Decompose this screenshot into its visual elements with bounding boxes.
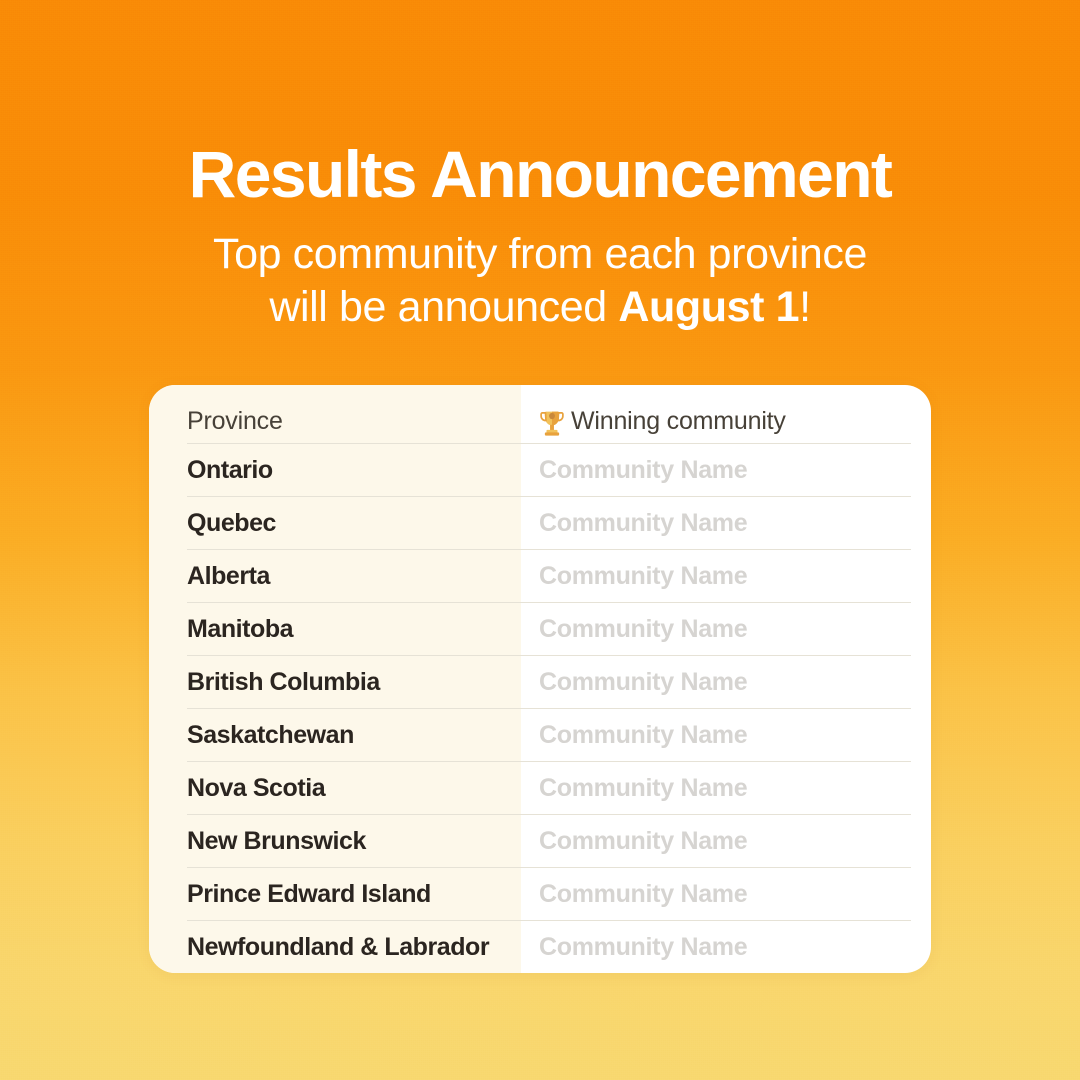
headline-block: Results Announcement Top community from … <box>0 0 1080 334</box>
row-divider <box>187 549 911 550</box>
cell-winning-community[interactable]: Community Name <box>521 497 931 549</box>
table-row: Prince Edward Island Community Name <box>149 868 931 920</box>
province-name: New Brunswick <box>187 827 366 856</box>
province-name: Ontario <box>187 456 273 485</box>
results-announcement-poster: Results Announcement Top community from … <box>0 0 1080 1080</box>
community-name-placeholder: Community Name <box>539 880 747 909</box>
subtitle-line-1: Top community from each province <box>213 230 867 278</box>
table-row: Alberta Community Name <box>149 550 931 602</box>
cell-province: British Columbia <box>149 656 521 708</box>
cell-province: Saskatchewan <box>149 709 521 761</box>
row-divider <box>187 602 911 603</box>
column-header-winning-community: Winning community <box>571 409 786 434</box>
cell-winning-community[interactable]: Community Name <box>521 762 931 814</box>
table-header-cell-province: Province <box>149 385 521 443</box>
table-row: Saskatchewan Community Name <box>149 709 931 761</box>
page-title: Results Announcement <box>0 0 1080 214</box>
province-name: British Columbia <box>187 668 380 697</box>
province-name: Manitoba <box>187 615 293 644</box>
community-name-placeholder: Community Name <box>539 456 747 485</box>
cell-province: Ontario <box>149 444 521 496</box>
row-divider <box>187 761 911 762</box>
row-divider <box>187 814 911 815</box>
row-divider <box>187 920 911 921</box>
row-divider <box>187 496 911 497</box>
cell-province: Manitoba <box>149 603 521 655</box>
row-divider <box>187 867 911 868</box>
poster-subtitle: Top community from each province will be… <box>0 214 1080 334</box>
cell-winning-community[interactable]: Community Name <box>521 656 931 708</box>
cell-winning-community[interactable]: Community Name <box>521 709 931 761</box>
province-name: Newfoundland & Labrador <box>187 933 489 962</box>
table-header-row: Province Winning community <box>149 385 931 443</box>
subtitle-line-2-suffix: ! <box>799 283 811 331</box>
column-header-province: Province <box>187 409 283 434</box>
subtitle-line-2-prefix: will be announced <box>269 283 618 331</box>
community-name-placeholder: Community Name <box>539 933 747 962</box>
cell-province: Quebec <box>149 497 521 549</box>
community-name-placeholder: Community Name <box>539 509 747 538</box>
table-row: Ontario Community Name <box>149 444 931 496</box>
province-name: Prince Edward Island <box>187 880 431 909</box>
results-table-card: Province Winning community <box>149 385 931 973</box>
cell-winning-community[interactable]: Community Name <box>521 550 931 602</box>
community-name-placeholder: Community Name <box>539 562 747 591</box>
cell-province: Prince Edward Island <box>149 868 521 920</box>
province-name: Saskatchewan <box>187 721 354 750</box>
cell-winning-community[interactable]: Community Name <box>521 444 931 496</box>
table-row: Quebec Community Name <box>149 497 931 549</box>
community-name-placeholder: Community Name <box>539 827 747 856</box>
community-name-placeholder: Community Name <box>539 721 747 750</box>
subtitle-date-emphasis: August 1 <box>618 283 799 331</box>
community-name-placeholder: Community Name <box>539 615 747 644</box>
community-name-placeholder: Community Name <box>539 774 747 803</box>
row-divider <box>187 708 911 709</box>
table-row: Newfoundland & Labrador Community Name <box>149 921 931 973</box>
table-row: Manitoba Community Name <box>149 603 931 655</box>
table-row: New Brunswick Community Name <box>149 815 931 867</box>
row-divider <box>187 655 911 656</box>
table-row: British Columbia Community Name <box>149 656 931 708</box>
cell-province: Alberta <box>149 550 521 602</box>
cell-province: New Brunswick <box>149 815 521 867</box>
province-name: Quebec <box>187 509 276 538</box>
cell-province: Nova Scotia <box>149 762 521 814</box>
cell-winning-community[interactable]: Community Name <box>521 868 931 920</box>
province-name: Nova Scotia <box>187 774 325 803</box>
row-divider <box>187 443 911 444</box>
table-row: Nova Scotia Community Name <box>149 762 931 814</box>
cell-province: Newfoundland & Labrador <box>149 921 521 973</box>
table-header-cell-community: Winning community <box>521 385 931 443</box>
cell-winning-community[interactable]: Community Name <box>521 921 931 973</box>
province-name: Alberta <box>187 562 270 591</box>
cell-winning-community[interactable]: Community Name <box>521 603 931 655</box>
trophy-icon <box>539 409 565 437</box>
community-name-placeholder: Community Name <box>539 668 747 697</box>
cell-winning-community[interactable]: Community Name <box>521 815 931 867</box>
